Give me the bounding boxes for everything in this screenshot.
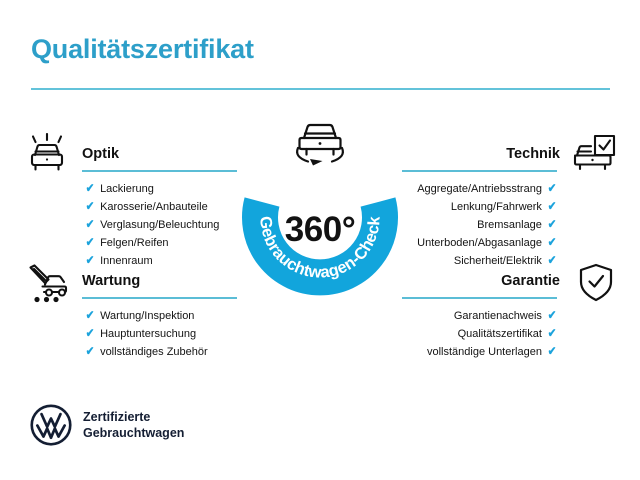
list-item: ✔Innenraum bbox=[85, 252, 219, 270]
check-icon: ✔ bbox=[548, 345, 557, 357]
list-item-label: Wartung/Inspektion bbox=[100, 307, 194, 325]
list-item: ✔Wartung/Inspektion bbox=[85, 307, 208, 325]
check-icon: ✔ bbox=[86, 254, 95, 266]
section-wartung: Wartung ✔Wartung/Inspektion ✔Hauptunters… bbox=[82, 273, 240, 299]
list-item: ✔vollständiges Zubehör bbox=[85, 343, 208, 361]
check-icon: ✔ bbox=[548, 236, 557, 248]
section-technik: Technik Aggregate/Antriebsstrang✔ Lenkun… bbox=[402, 146, 560, 172]
section-wartung-head: Wartung bbox=[82, 273, 240, 299]
check-icon: ✔ bbox=[548, 309, 557, 321]
section-optik-list: ✔Lackierung ✔Karosserie/Anbauteile ✔Verg… bbox=[85, 180, 219, 270]
section-garantie-head: Garantie bbox=[402, 273, 560, 299]
section-wartung-list: ✔Wartung/Inspektion ✔Hauptuntersuchung ✔… bbox=[85, 307, 208, 361]
list-item-label: vollständiges Zubehör bbox=[100, 343, 208, 361]
check-icon: ✔ bbox=[548, 200, 557, 212]
section-garantie: Garantie Garantienachweis✔ Qualitätszert… bbox=[402, 273, 560, 299]
section-optik: Optik ✔Lackierung ✔Karosserie/Anbauteile… bbox=[82, 146, 240, 172]
list-item: Aggregate/Antriebsstrang✔ bbox=[417, 180, 557, 198]
section-wartung-title: Wartung bbox=[82, 273, 140, 289]
list-item-label: Felgen/Reifen bbox=[100, 234, 169, 252]
list-item-label: vollständige Unterlagen bbox=[427, 343, 542, 361]
section-technik-list: Aggregate/Antriebsstrang✔ Lenkung/Fahrwe… bbox=[417, 180, 557, 270]
page-title: Qualitätszertifikat bbox=[31, 34, 254, 65]
list-item-label: Karosserie/Anbauteile bbox=[100, 198, 208, 216]
car-shine-icon bbox=[24, 133, 70, 175]
list-item-label: Lenkung/Fahrwerk bbox=[451, 198, 542, 216]
list-item: Lenkung/Fahrwerk✔ bbox=[417, 198, 557, 216]
vw-certified-logo: Zertifizierte Gebrauchtwagen bbox=[30, 404, 184, 446]
list-item-label: Qualitätszertifikat bbox=[458, 325, 542, 343]
list-item-label: Garantienachweis bbox=[454, 307, 542, 325]
logo-text-block: Zertifizierte Gebrauchtwagen bbox=[83, 409, 184, 441]
section-optik-divider bbox=[82, 170, 237, 172]
header-divider bbox=[31, 88, 610, 90]
section-optik-title: Optik bbox=[82, 146, 119, 162]
check-icon: ✔ bbox=[548, 182, 557, 194]
list-item-label: Verglasung/Beleuchtung bbox=[100, 216, 219, 234]
section-garantie-divider bbox=[402, 297, 557, 299]
check-icon: ✔ bbox=[548, 218, 557, 230]
certificate-page: Qualitätszertifikat Optik ✔Lackierung ✔K… bbox=[0, 0, 640, 480]
check-icon: ✔ bbox=[86, 309, 95, 321]
section-technik-head: Technik bbox=[402, 146, 560, 172]
badge-360-check: Gebrauchtwagen-Check 360° bbox=[218, 112, 422, 316]
list-item: Sicherheit/Elektrik✔ bbox=[417, 252, 557, 270]
shield-check-icon bbox=[573, 262, 619, 304]
section-optik-head: Optik bbox=[82, 146, 240, 172]
wrench-car-icon bbox=[24, 263, 70, 305]
list-item: Bremsanlage✔ bbox=[417, 216, 557, 234]
list-item: vollständige Unterlagen✔ bbox=[427, 343, 557, 361]
section-garantie-title: Garantie bbox=[501, 273, 560, 289]
logo-line-1: Zertifizierte bbox=[83, 409, 184, 425]
check-icon: ✔ bbox=[548, 327, 557, 339]
check-icon: ✔ bbox=[86, 345, 95, 357]
check-icon: ✔ bbox=[548, 254, 557, 266]
section-technik-title: Technik bbox=[506, 146, 560, 162]
list-item-label: Bremsanlage bbox=[477, 216, 542, 234]
list-item-label: Lackierung bbox=[100, 180, 154, 198]
list-item: ✔Lackierung bbox=[85, 180, 219, 198]
check-icon: ✔ bbox=[86, 218, 95, 230]
check-icon: ✔ bbox=[86, 182, 95, 194]
list-item-label: Unterboden/Abgasanlage bbox=[417, 234, 542, 252]
list-item-label: Innenraum bbox=[100, 252, 153, 270]
badge-number: 360° bbox=[218, 210, 422, 250]
list-item-label: Sicherheit/Elektrik bbox=[454, 252, 542, 270]
check-icon: ✔ bbox=[86, 236, 95, 248]
logo-line-2: Gebrauchtwagen bbox=[83, 425, 184, 441]
car-checkbox-icon bbox=[571, 133, 617, 175]
vw-logo-icon bbox=[30, 404, 72, 446]
section-technik-divider bbox=[402, 170, 557, 172]
list-item: ✔Felgen/Reifen bbox=[85, 234, 219, 252]
check-icon: ✔ bbox=[86, 327, 95, 339]
check-icon: ✔ bbox=[86, 200, 95, 212]
list-item: ✔Karosserie/Anbauteile bbox=[85, 198, 219, 216]
list-item-label: Hauptuntersuchung bbox=[100, 325, 196, 343]
section-wartung-divider bbox=[82, 297, 237, 299]
list-item: Unterboden/Abgasanlage✔ bbox=[417, 234, 557, 252]
list-item: ✔Hauptuntersuchung bbox=[85, 325, 208, 343]
list-item-label: Aggregate/Antriebsstrang bbox=[417, 180, 542, 198]
list-item: Qualitätszertifikat✔ bbox=[427, 325, 557, 343]
list-item: ✔Verglasung/Beleuchtung bbox=[85, 216, 219, 234]
section-garantie-list: Garantienachweis✔ Qualitätszertifikat✔ v… bbox=[427, 307, 557, 361]
list-item: Garantienachweis✔ bbox=[427, 307, 557, 325]
